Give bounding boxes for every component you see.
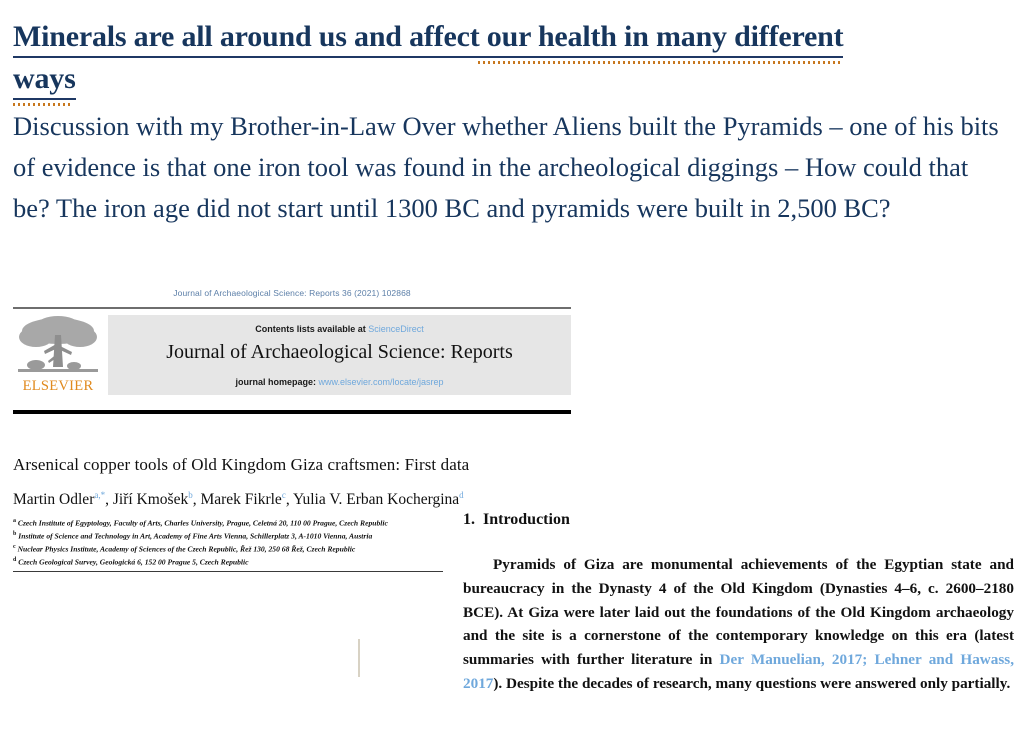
journal-name: Journal of Archaeological Science: Repor… bbox=[108, 341, 571, 364]
elsevier-tree-icon bbox=[14, 315, 102, 377]
banner-top-rule bbox=[13, 307, 571, 309]
introduction-label: Introduction bbox=[483, 511, 570, 528]
affiliation-row: a Czech Institute of Egyptology, Faculty… bbox=[13, 516, 463, 529]
elsevier-wordmark: ELSEVIER bbox=[14, 378, 102, 395]
affiliation-text-b: Institute of Science and Technology in A… bbox=[18, 532, 372, 541]
introduction-heading: 1.Introduction bbox=[463, 511, 570, 529]
introduction-text-part-2: ). Despite the decades of research, many… bbox=[493, 675, 1010, 692]
introduction-paragraph: Pyramids of Giza are monumental achievem… bbox=[463, 553, 1014, 696]
author-marks-3: c bbox=[282, 490, 286, 500]
banner-bottom-rule bbox=[13, 410, 571, 414]
affiliation-mark-c: c bbox=[13, 544, 16, 550]
affiliation-mark-b: b bbox=[13, 531, 16, 537]
slide-title-line-1-text: Minerals are all around us and affect ou… bbox=[13, 18, 843, 58]
author-marks-2: b bbox=[188, 490, 193, 500]
slide-title: Minerals are all around us and affect ou… bbox=[13, 18, 1013, 102]
journal-homepage-prefix: journal homepage: bbox=[235, 377, 318, 387]
affiliation-row: b Institute of Science and Technology in… bbox=[13, 529, 463, 542]
journal-homepage-link[interactable]: www.elsevier.com/locate/jasrep bbox=[318, 377, 443, 387]
author-marks-4: d bbox=[459, 490, 464, 500]
contents-lists-prefix: Contents lists available at bbox=[255, 324, 368, 334]
author-name-3: Marek Fikrle bbox=[200, 491, 281, 508]
author-name-1: Martin Odler bbox=[13, 491, 94, 508]
affiliation-text-c: Nuclear Physics Institute, Academy of Sc… bbox=[18, 545, 356, 554]
author-marks-1: a,* bbox=[94, 490, 105, 500]
spellcheck-squiggle-line-1 bbox=[478, 61, 843, 64]
author-name-2: Jiří Kmošek bbox=[113, 491, 188, 508]
contents-lists-line: Contents lists available at ScienceDirec… bbox=[108, 324, 571, 334]
affiliation-text-a: Czech Institute of Egyptology, Faculty o… bbox=[18, 519, 388, 528]
slide-body-text: Discussion with my Brother-in-Law Over w… bbox=[13, 106, 1003, 229]
journal-homepage-line: journal homepage: www.elsevier.com/locat… bbox=[108, 377, 571, 387]
introduction-number: 1. bbox=[463, 511, 475, 528]
article-authors: Martin Odlera,*, Jiří Kmošekb, Marek Fik… bbox=[13, 490, 573, 509]
article-affiliations: a Czech Institute of Egyptology, Faculty… bbox=[13, 516, 463, 569]
elsevier-logo: ELSEVIER bbox=[14, 315, 102, 395]
author-name-4: Yulia V. Erban Kochergina bbox=[293, 491, 459, 508]
journal-running-head: Journal of Archaeological Science: Repor… bbox=[13, 288, 571, 298]
article-title: Arsenical copper tools of Old Kingdom Gi… bbox=[13, 455, 558, 475]
affiliation-separator-rule bbox=[13, 571, 443, 572]
slide-title-line-2-text: ways bbox=[13, 60, 76, 100]
slide-title-line-1: Minerals are all around us and affect ou… bbox=[13, 18, 843, 60]
affiliation-text-d: Czech Geological Survey, Geologická 6, 1… bbox=[18, 558, 248, 567]
affiliation-row: c Nuclear Physics Institute, Academy of … bbox=[13, 542, 463, 555]
affiliation-mark-a: a bbox=[13, 518, 16, 524]
column-divider-mark bbox=[358, 639, 360, 677]
sciencedirect-link[interactable]: ScienceDirect bbox=[368, 324, 424, 334]
affiliation-row: d Czech Geological Survey, Geologická 6,… bbox=[13, 555, 463, 568]
affiliation-mark-d: d bbox=[13, 557, 16, 563]
journal-banner: Contents lists available at ScienceDirec… bbox=[108, 315, 571, 395]
slide-title-line-2: ways bbox=[13, 60, 76, 102]
